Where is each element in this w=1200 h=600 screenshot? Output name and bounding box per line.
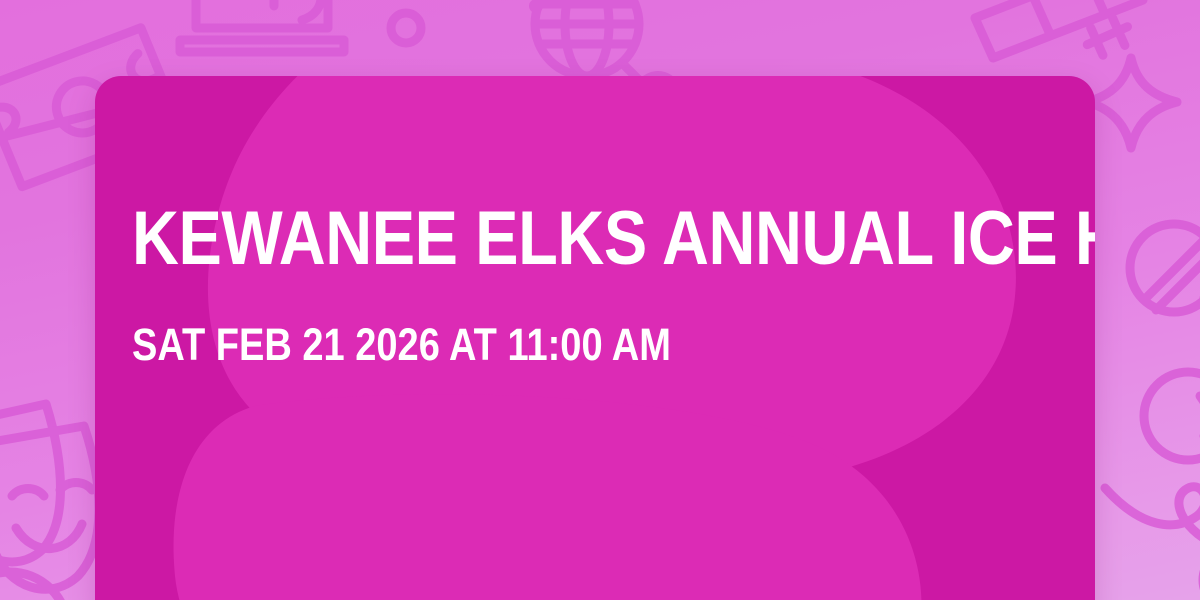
event-banner: KEWANEE ELKS ANNUAL ICE HOLE SAT FEB 21 … [0,0,1200,600]
event-title: KEWANEE ELKS ANNUAL ICE HOLE [132,204,927,274]
circle-outline-icon [391,13,421,43]
laptop-icon [180,0,344,52]
event-card[interactable]: KEWANEE ELKS ANNUAL ICE HOLE SAT FEB 21 … [95,76,1095,600]
event-datetime: SAT FEB 21 2026 AT 11:00 AM [132,322,918,367]
theater-masks-icon [0,404,99,589]
event-text-block: KEWANEE ELKS ANNUAL ICE HOLE SAT FEB 21 … [132,204,1062,367]
banner-flag-icon [975,0,1159,58]
confetti-swirl-icon [1105,487,1200,600]
sparkle-icon [1087,58,1177,148]
balloon-icon [1144,372,1200,460]
microphone-icon [1130,224,1200,354]
